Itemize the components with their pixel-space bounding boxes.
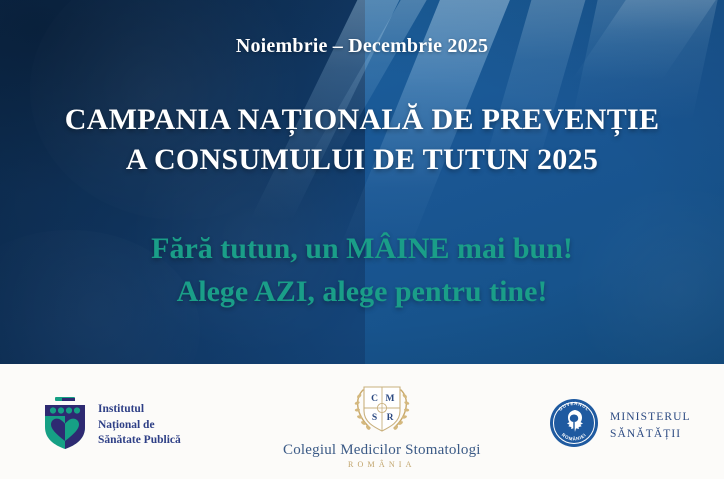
page-title-line-1: CAMPANIA NAȚIONALĂ DE PREVENȚIE	[65, 103, 660, 136]
logo-colegiul-medicilor-stomatologi: C M S R	[283, 382, 481, 469]
logo-ministerul-sanatatii: GUVERNUL ROMÂNIEI MINISTERUL SĂNĂTĂȚII	[549, 398, 691, 453]
shield-heart-icon	[42, 396, 88, 455]
crest-letter-s: S	[372, 413, 377, 423]
crest-letter-c: C	[371, 394, 378, 404]
logo-institutul-national-de-sanatate-publica: Institutul Național de Sănătate Publică	[42, 396, 181, 455]
hero-banner: Noiembrie – Decembrie 2025 CAMPANIA NAȚI…	[0, 0, 724, 364]
insp-wordmark: Institutul Național de Sănătate Publică	[98, 402, 181, 449]
cmsr-wordmark: Colegiul Medicilor Stomatologi	[283, 442, 481, 459]
campaign-slogan: Fără tutun, un MÂINE mai bun! Alege AZI,…	[0, 228, 724, 313]
insp-line-1: Institutul	[98, 402, 181, 418]
crest-letter-r: R	[386, 413, 393, 423]
page-title-line-2: A CONSUMULUI DE TUTUN 2025	[0, 140, 724, 180]
guvernul-romaniei-seal-icon: GUVERNUL ROMÂNIEI	[549, 398, 599, 453]
insp-line-2: Național de	[98, 418, 181, 434]
ministry-line-1: MINISTERUL	[610, 409, 691, 426]
cmsr-country-label: ROMÂNIA	[348, 460, 416, 469]
ministerul-sanatatii-wordmark: MINISTERUL SĂNĂTĂȚII	[610, 409, 691, 442]
campaign-slogan-line-1: Fără tutun, un MÂINE mai bun!	[151, 232, 573, 265]
campaign-period: Noiembrie – Decembrie 2025	[0, 35, 724, 58]
hero-text-block: Noiembrie – Decembrie 2025 CAMPANIA NAȚI…	[0, 0, 724, 364]
crest-letter-m: M	[385, 394, 394, 404]
campaign-poster: Noiembrie – Decembrie 2025 CAMPANIA NAȚI…	[0, 0, 724, 479]
cmsr-crest-icon: C M S R	[351, 382, 413, 439]
campaign-slogan-line-2: Alege AZI, alege pentru tine!	[0, 271, 724, 314]
ministry-line-2: SĂNĂTĂȚII	[610, 426, 691, 443]
insp-line-3: Sănătate Publică	[98, 433, 181, 449]
page-title: CAMPANIA NAȚIONALĂ DE PREVENȚIE A CONSUM…	[0, 100, 724, 180]
